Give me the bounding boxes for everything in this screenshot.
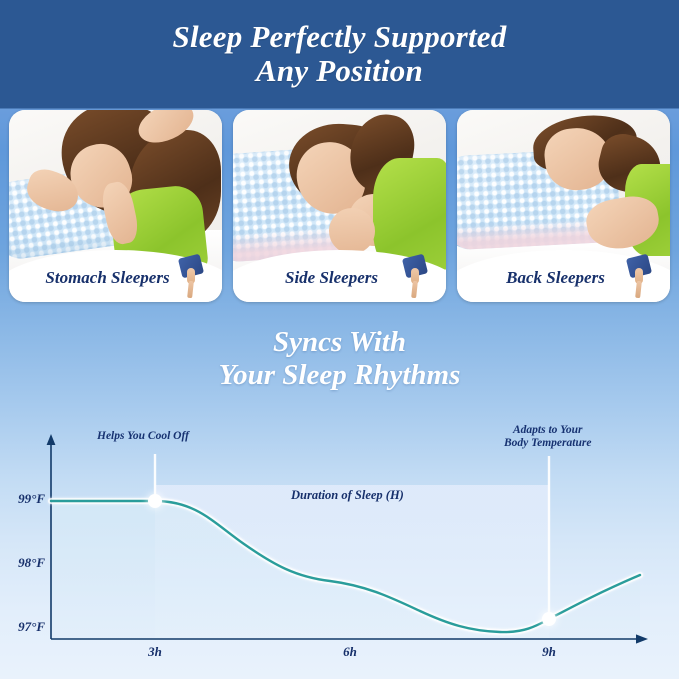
annotation-adapts-line-2: Body Temperature	[504, 437, 591, 450]
temperature-chart: Helps You Cool Off Adapts to Your Body T…	[0, 420, 679, 679]
headline-line-2: Any Position	[256, 54, 423, 88]
sleeper-figure-icon	[178, 256, 204, 298]
section-title: Syncs With Your Sleep Rhythms	[0, 326, 679, 392]
subhead-line-2: Your Sleep Rhythms	[219, 359, 461, 392]
y-tick-label-97: 97°F	[3, 619, 45, 635]
y-tick-label-99: 99°F	[3, 491, 45, 507]
card-side-sleepers[interactable]: Side Sleepers	[233, 110, 446, 302]
duration-of-sleep-label: Duration of Sleep (H)	[291, 488, 404, 503]
annotation-adapts-line-1: Adapts to Your	[504, 424, 591, 437]
x-axis-arrow	[636, 634, 648, 643]
subhead-line-1: Syncs With	[273, 326, 406, 359]
card-back-sleepers[interactable]: Back Sleepers	[457, 110, 670, 302]
y-tick-label-98: 98°F	[3, 555, 45, 571]
sleeper-cards-row: Stomach Sleepers Side Sleepers	[9, 110, 670, 302]
sleeper-figure-icon	[402, 256, 428, 298]
headline-line-1: Sleep Perfectly Supported	[173, 20, 507, 54]
y-axis-arrow	[47, 434, 56, 445]
card-stomach-sleepers[interactable]: Stomach Sleepers	[9, 110, 222, 302]
marker-dot-cool-off	[148, 494, 162, 508]
headline-banner: Sleep Perfectly Supported Any Position	[0, 0, 679, 108]
infographic-page: Sleep Perfectly Supported Any Position S…	[0, 0, 679, 679]
x-tick-label-3h: 3h	[135, 644, 175, 660]
annotation-adapts: Adapts to Your Body Temperature	[504, 424, 591, 450]
marker-dot-adapts	[542, 612, 556, 626]
x-tick-label-9h: 9h	[529, 644, 569, 660]
annotation-cool-off: Helps You Cool Off	[97, 430, 189, 443]
x-tick-label-6h: 6h	[330, 644, 370, 660]
sleeper-figure-icon	[626, 256, 652, 298]
chart-svg	[0, 420, 679, 679]
